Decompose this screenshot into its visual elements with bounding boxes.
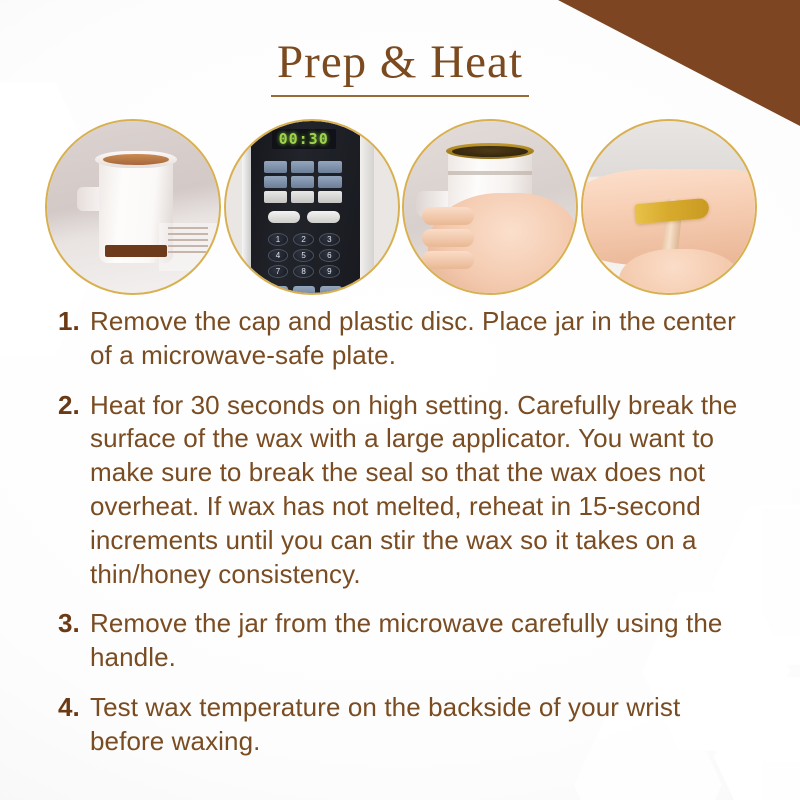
- step-text: Heat for 30 seconds on high setting. Car…: [90, 389, 758, 592]
- zero-button: [293, 286, 315, 293]
- wax-jar-open-image: [47, 121, 219, 293]
- page-title: Prep & Heat: [271, 36, 529, 97]
- microwave-door-edge: [360, 121, 374, 293]
- preset-key: [291, 191, 314, 203]
- number-key: 5: [293, 249, 314, 262]
- number-key: 3: [319, 233, 340, 246]
- timer-button: [307, 211, 340, 223]
- preset-key: [318, 191, 341, 203]
- preset-key: [291, 161, 314, 173]
- instruction-step: 4. Test wax temperature on the backside …: [58, 691, 758, 759]
- step-text: Remove the cap and plastic disc. Place j…: [90, 305, 758, 373]
- microwave-panel-image: 00:30 1: [226, 121, 398, 293]
- microwave-clock-start-row: [266, 286, 342, 293]
- instruction-card: Prep & Heat 00:30: [0, 0, 800, 800]
- start-button: [320, 286, 342, 293]
- preset-key: [264, 161, 287, 173]
- jar-ridge: [448, 171, 532, 175]
- finger: [422, 251, 474, 269]
- instruction-steps-list: 1. Remove the cap and plastic disc. Plac…: [58, 305, 758, 775]
- microwave-function-buttons: [268, 211, 340, 223]
- preset-key: [264, 176, 287, 188]
- microwave-preset-keys: [264, 161, 342, 203]
- step-text: Test wax temperature on the backside of …: [90, 691, 758, 759]
- jar-label: [159, 223, 217, 271]
- instruction-step: 1. Remove the cap and plastic disc. Plac…: [58, 305, 758, 373]
- wax-on-wrist-image: [583, 121, 755, 293]
- hand-holding-jar-image: [404, 121, 576, 293]
- melted-wax-surface: [452, 146, 528, 157]
- step-number: 1.: [58, 305, 90, 339]
- photo-circle-wax-on-wrist: [581, 119, 757, 295]
- microwave-panel-trim: [242, 121, 251, 293]
- preset-key: [318, 176, 341, 188]
- preset-key: [291, 176, 314, 188]
- finger: [422, 207, 474, 225]
- number-key: 1: [268, 233, 289, 246]
- preset-key: [318, 161, 341, 173]
- microwave-display-time: 00:30: [279, 130, 329, 148]
- microwave-number-pad: 1 2 3 4 5 6 7 8 9: [268, 233, 340, 278]
- number-key: 2: [293, 233, 314, 246]
- number-key: 9: [319, 265, 340, 278]
- page-title-container: Prep & Heat: [0, 36, 800, 97]
- step-number: 3.: [58, 607, 90, 641]
- instruction-step: 2. Heat for 30 seconds on high setting. …: [58, 389, 758, 592]
- wax-surface: [103, 154, 169, 165]
- jar-label-band: [105, 245, 167, 257]
- photo-circle-wax-jar-open: [45, 119, 221, 295]
- instruction-step: 3. Remove the jar from the microwave car…: [58, 607, 758, 675]
- number-key: 6: [319, 249, 340, 262]
- step-number: 4.: [58, 691, 90, 725]
- microwave-display: 00:30: [272, 129, 336, 149]
- photo-circle-hand-holding-jar: [402, 119, 578, 295]
- preset-key: [264, 191, 287, 203]
- photo-circle-row: 00:30 1: [45, 119, 757, 297]
- finger: [422, 229, 474, 247]
- number-key: 8: [293, 265, 314, 278]
- clock-button: [266, 286, 288, 293]
- cook-button: [268, 211, 301, 223]
- photo-circle-microwave-panel: 00:30 1: [224, 119, 400, 295]
- step-number: 2.: [58, 389, 90, 423]
- number-key: 4: [268, 249, 289, 262]
- step-text: Remove the jar from the microwave carefu…: [90, 607, 758, 675]
- number-key: 7: [268, 265, 289, 278]
